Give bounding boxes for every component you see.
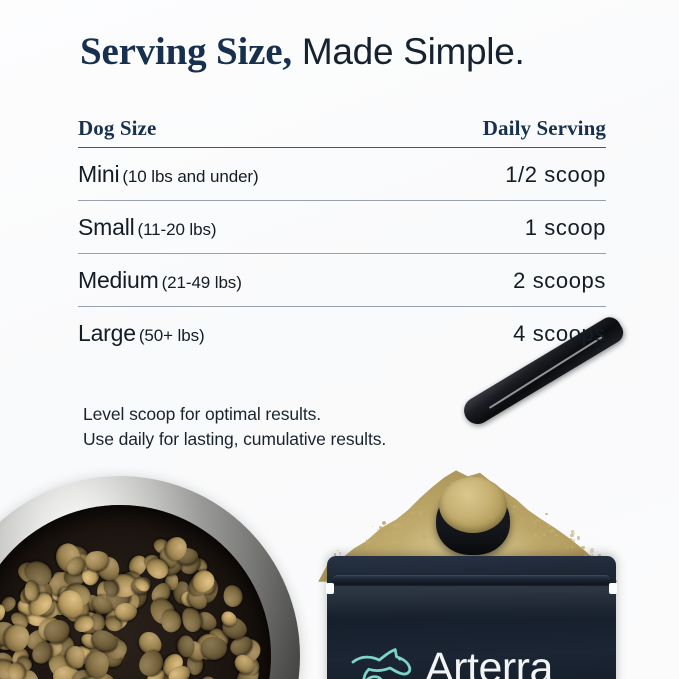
table-row: Medium(21-49 lbs)2 scoops	[78, 254, 606, 306]
serving-size-infographic: Arterra Serving Size, Made Simple. Dog S…	[0, 0, 679, 679]
dog-size-range: (10 lbs and under)	[122, 167, 258, 186]
table-row: Large(50+ lbs)4 scoops	[78, 307, 606, 359]
dog-size-name: Large	[78, 320, 136, 346]
column-header-dog-size: Dog Size	[78, 116, 156, 141]
serving-size-table: Dog Size Daily Serving Mini(10 lbs and u…	[78, 116, 606, 359]
cell-daily-serving: 1 scoop	[525, 215, 606, 241]
table-row: Small(11-20 lbs)1 scoop	[78, 201, 606, 253]
dog-size-range: (11-20 lbs)	[138, 220, 217, 239]
cell-daily-serving: 2 scoops	[513, 268, 606, 294]
cell-dog-size: Small(11-20 lbs)	[78, 214, 216, 241]
content-layer: Serving Size, Made Simple. Dog Size Dail…	[0, 0, 679, 679]
cell-dog-size: Large(50+ lbs)	[78, 320, 205, 347]
cell-daily-serving: 4 scoops	[513, 321, 606, 347]
table-row: Mini(10 lbs and under)1/2 scoop	[78, 148, 606, 200]
dog-size-range: (50+ lbs)	[139, 326, 205, 345]
page-title: Serving Size, Made Simple.	[80, 32, 524, 71]
usage-note-line-2: Use daily for lasting, cumulative result…	[83, 427, 386, 452]
cell-dog-size: Mini(10 lbs and under)	[78, 161, 259, 188]
table-body: Mini(10 lbs and under)1/2 scoopSmall(11-…	[78, 148, 606, 359]
usage-note-line-1: Level scoop for optimal results.	[83, 402, 386, 427]
page-title-emphasis: Serving Size,	[80, 30, 292, 73]
page-title-subtext: Made Simple.	[292, 31, 525, 72]
cell-dog-size: Medium(21-49 lbs)	[78, 267, 242, 294]
dog-size-range: (21-49 lbs)	[162, 273, 242, 292]
usage-notes: Level scoop for optimal results. Use dai…	[83, 402, 386, 453]
table-header-row: Dog Size Daily Serving	[78, 116, 606, 147]
cell-daily-serving: 1/2 scoop	[505, 162, 606, 188]
dog-size-name: Medium	[78, 267, 159, 293]
column-header-daily-serving: Daily Serving	[483, 116, 606, 141]
dog-size-name: Small	[78, 214, 135, 240]
dog-size-name: Mini	[78, 161, 119, 187]
